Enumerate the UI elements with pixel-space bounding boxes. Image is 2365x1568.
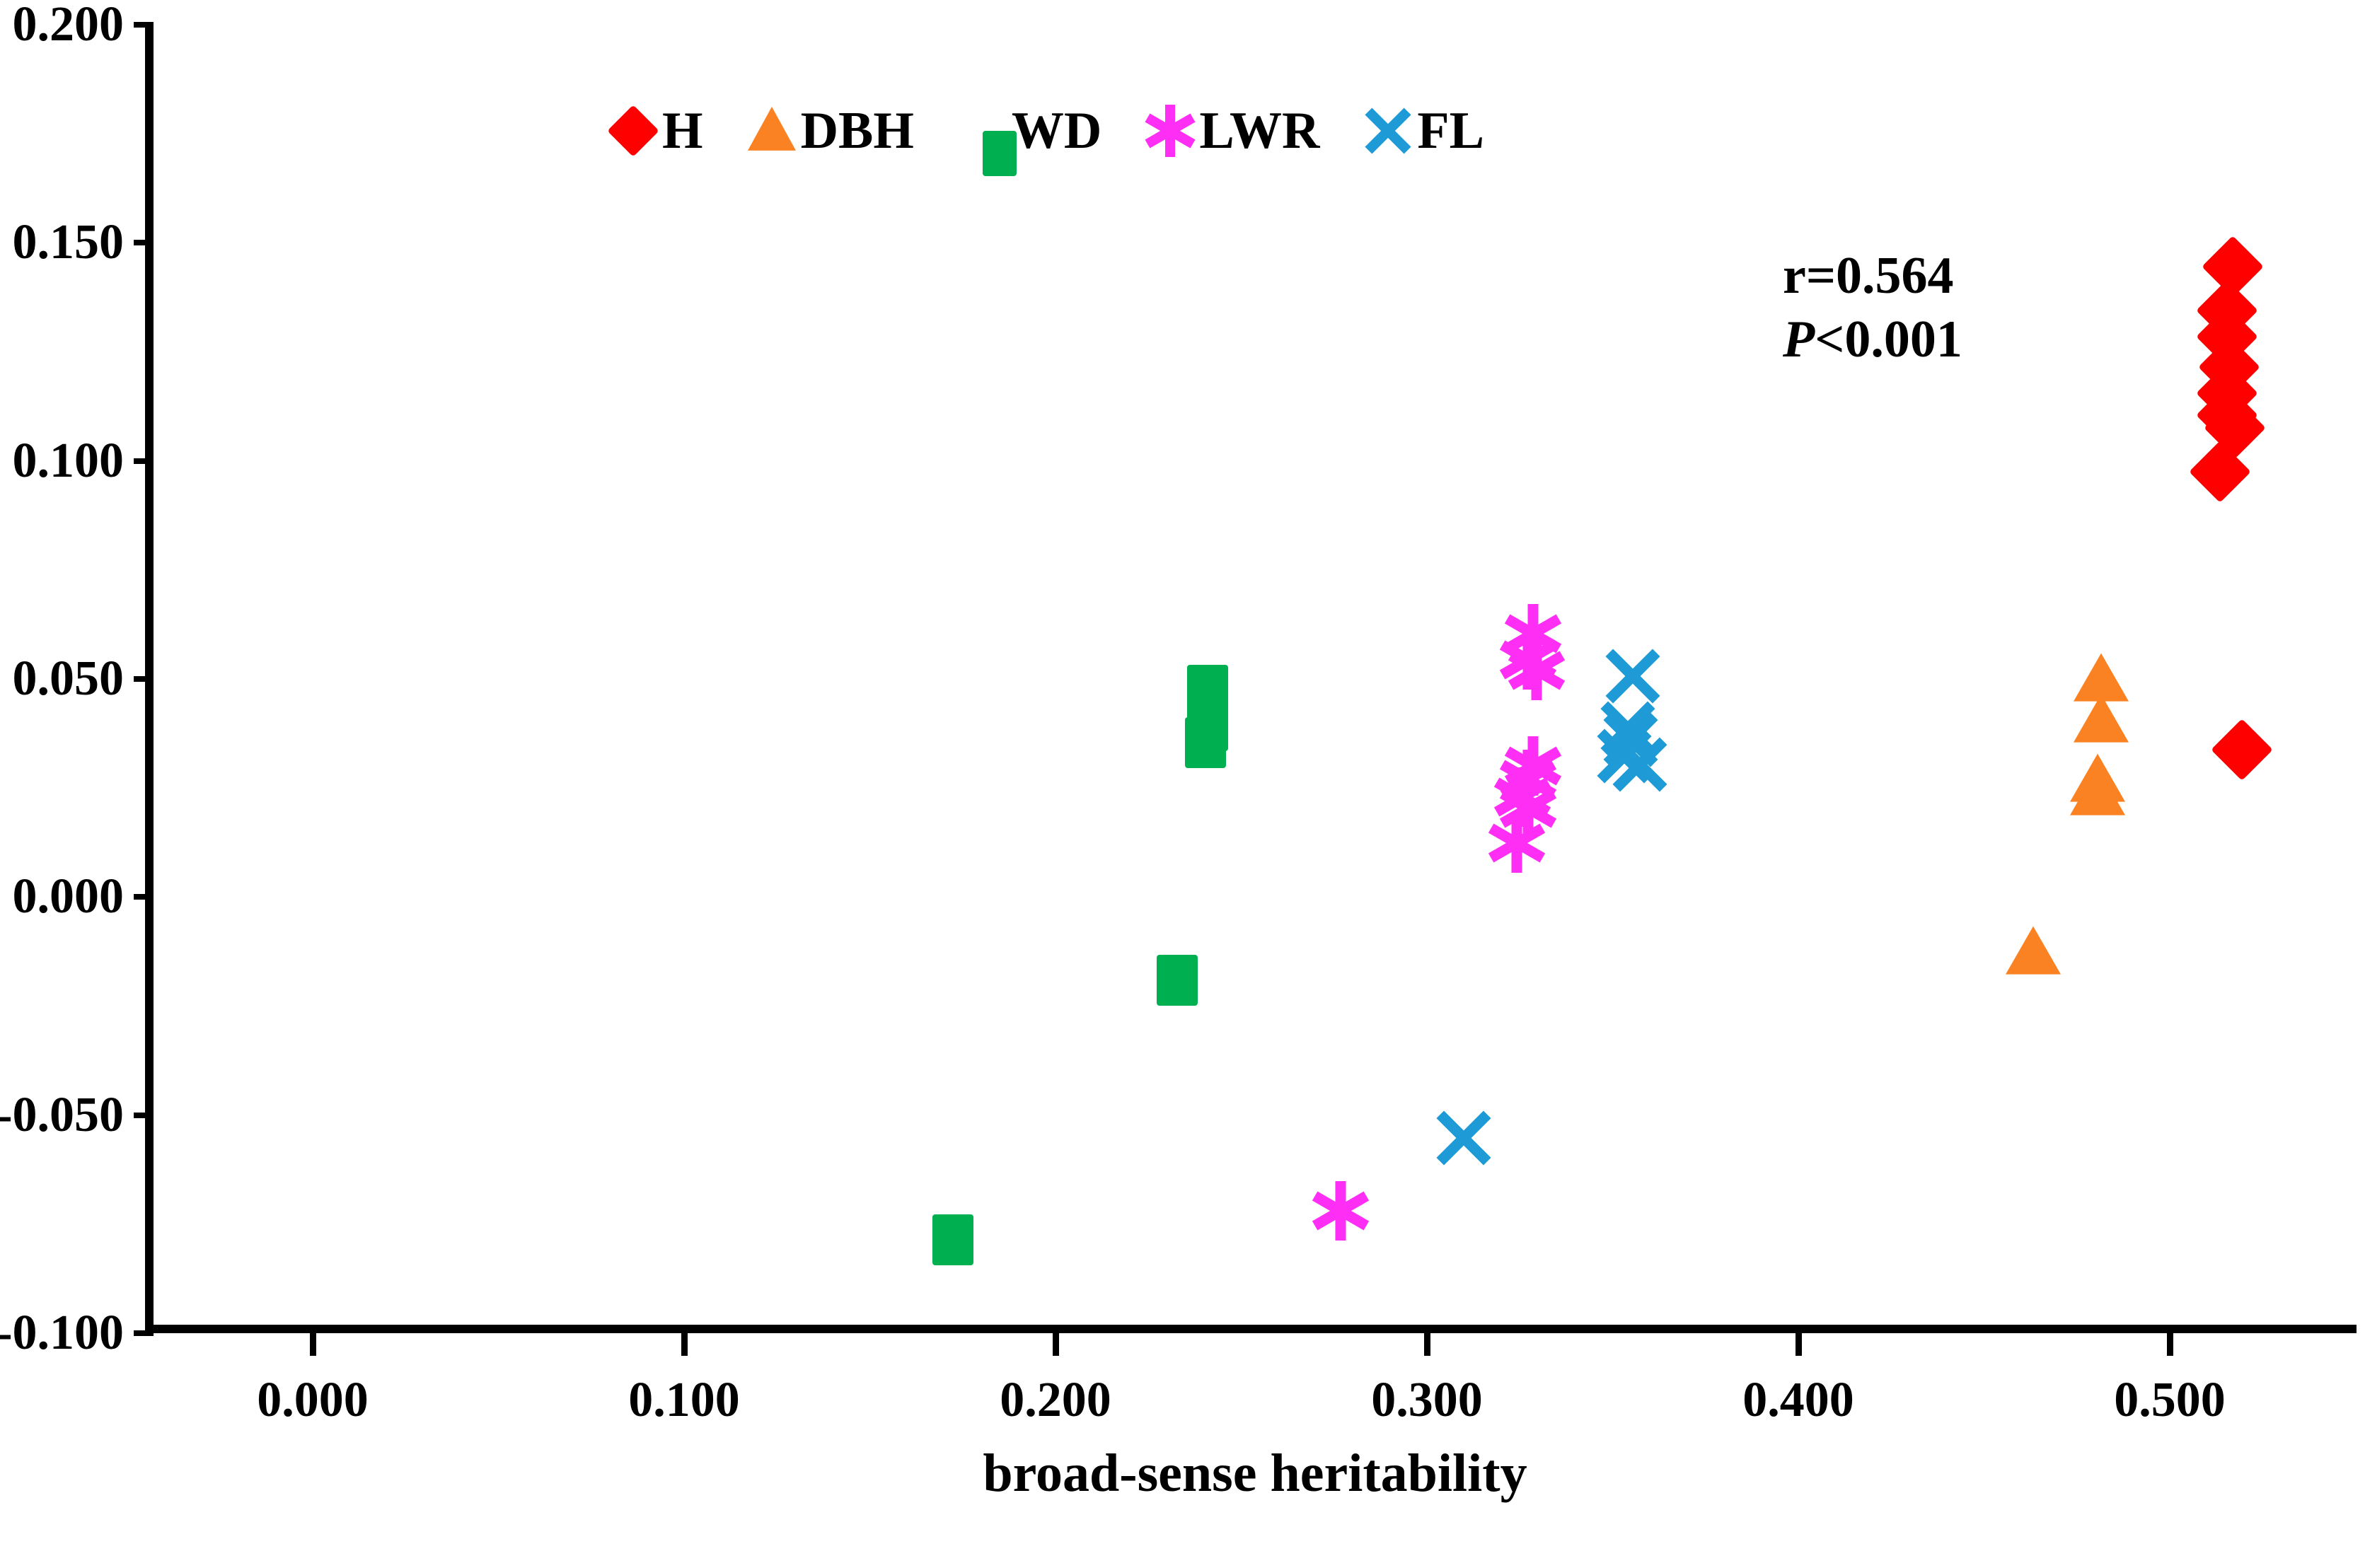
y-tick-mark — [134, 240, 154, 245]
x-tick-mark — [310, 1325, 316, 1356]
x-tick-mark — [2167, 1325, 2173, 1356]
legend-label: DBH — [801, 105, 914, 157]
x-tick-label: 0.400 — [1742, 1372, 1854, 1429]
square-icon — [958, 106, 1007, 156]
y-tick-mark — [134, 894, 154, 900]
y-tick-label: 0.000 — [13, 869, 125, 925]
cross-marker-icon — [1435, 1110, 1492, 1166]
cross-marker-icon — [1612, 736, 1668, 793]
cross-icon — [1363, 106, 1413, 156]
y-tick-mark — [134, 1113, 154, 1118]
y-tick-label: 0.150 — [13, 214, 125, 271]
y-tick-label: -0.050 — [0, 1087, 124, 1144]
diamond-marker-icon — [2189, 441, 2251, 503]
chart-page: Prediction ability broad-sense heritabil… — [0, 0, 2365, 1568]
chart-legend: HDBHWDLWRFL — [608, 105, 1484, 157]
diamond-icon — [608, 106, 658, 156]
x-tick-label: 0.300 — [1371, 1372, 1483, 1429]
square-marker-icon — [1185, 717, 1226, 768]
x-tick-mark — [1796, 1325, 1802, 1356]
legend-label: FL — [1417, 105, 1484, 157]
cross-marker-icon — [1604, 648, 1661, 704]
legend-item-fl[interactable]: FL — [1363, 105, 1484, 157]
diamond-marker-icon — [2202, 236, 2264, 298]
legend-item-lwr[interactable]: LWR — [1145, 105, 1319, 157]
diamond-marker-icon — [2197, 384, 2259, 446]
square-marker-icon — [1187, 700, 1228, 751]
cross-marker-icon — [1600, 700, 1656, 757]
asterisk-marker-icon — [1498, 779, 1558, 838]
asterisk-icon — [1145, 106, 1195, 156]
y-tick-label: 0.050 — [13, 651, 125, 707]
diamond-marker-icon — [2204, 397, 2266, 460]
legend-label: H — [662, 105, 703, 157]
stats-annotation: r=0.564 P<0.001 — [1783, 244, 1962, 372]
y-tick-mark — [134, 676, 154, 682]
x-tick-mark — [1424, 1325, 1430, 1356]
diamond-marker-icon — [2211, 719, 2274, 781]
y-tick-label: 0.200 — [13, 0, 125, 53]
x-tick-label: 0.200 — [1000, 1372, 1111, 1429]
y-tick-label: 0.100 — [13, 433, 125, 489]
y-tick-mark — [134, 22, 154, 28]
triangle-marker-icon — [2074, 654, 2129, 702]
asterisk-marker-icon — [1498, 750, 1558, 809]
x-tick-mark — [1053, 1325, 1059, 1356]
legend-item-h[interactable]: H — [608, 105, 703, 157]
plot-area: 0.2000.1500.1000.0500.000-0.050-0.1000.0… — [145, 25, 2357, 1333]
x-tick-mark — [681, 1325, 688, 1356]
square-marker-icon — [1157, 955, 1198, 1006]
x-tick-label: 0.100 — [628, 1372, 740, 1429]
asterisk-marker-icon — [1498, 630, 1558, 690]
legend-item-dbh[interactable]: DBH — [747, 105, 914, 157]
asterisk-marker-icon — [1503, 604, 1563, 663]
diamond-marker-icon — [2197, 306, 2259, 368]
asterisk-marker-icon — [1311, 1181, 1370, 1241]
triangle-marker-icon — [2070, 754, 2125, 802]
x-tick-label: 0.000 — [257, 1372, 369, 1429]
square-marker-icon — [1187, 683, 1228, 733]
pvalue-rest: <0.001 — [1815, 310, 1962, 368]
x-axis-title: broad-sense heritability — [145, 1443, 2365, 1504]
asterisk-marker-icon — [1507, 641, 1566, 700]
diamond-marker-icon — [2197, 362, 2259, 424]
legend-label: WD — [1012, 105, 1101, 157]
triangle-icon — [747, 106, 797, 156]
cross-marker-icon — [1602, 712, 1659, 768]
correlation-value: r=0.564 — [1783, 244, 1962, 308]
diamond-marker-icon — [2198, 336, 2260, 398]
square-marker-icon — [1187, 665, 1228, 716]
asterisk-marker-icon — [1493, 767, 1552, 827]
pvalue-symbol: P — [1783, 310, 1815, 368]
diamond-marker-icon — [2197, 279, 2259, 342]
triangle-marker-icon — [2074, 694, 2129, 742]
square-marker-icon — [932, 1214, 973, 1265]
asterisk-marker-icon — [1503, 736, 1563, 796]
pvalue-text: P<0.001 — [1783, 308, 1962, 371]
legend-label: LWR — [1199, 105, 1319, 157]
y-tick-mark — [134, 1330, 154, 1336]
cross-marker-icon — [1596, 728, 1653, 784]
legend-item-wd[interactable]: WD — [958, 105, 1101, 157]
plot-canvas: 0.2000.1500.1000.0500.000-0.050-0.1000.0… — [154, 25, 2357, 1325]
asterisk-marker-icon — [1487, 813, 1546, 873]
x-tick-label: 0.500 — [2114, 1372, 2226, 1429]
triangle-marker-icon — [2070, 767, 2125, 815]
y-tick-label: -0.100 — [0, 1305, 124, 1361]
y-tick-mark — [134, 458, 154, 464]
triangle-marker-icon — [2006, 927, 2061, 975]
